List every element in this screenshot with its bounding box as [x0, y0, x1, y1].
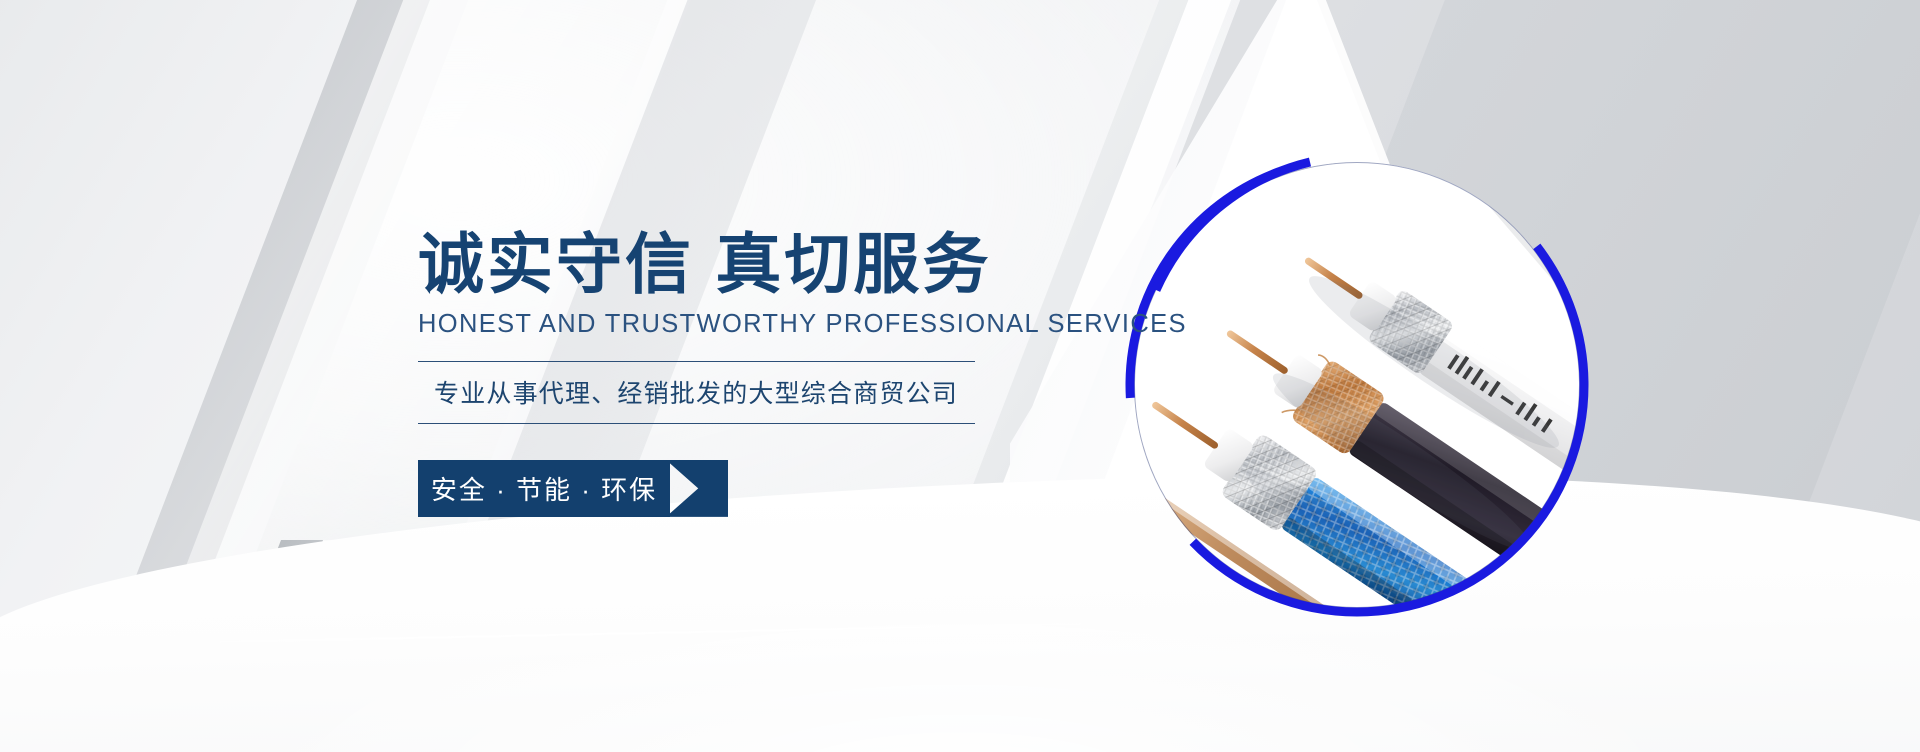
banner-subheadline-english: HONEST AND TRUSTWORTHY PROFESSIONAL SERV…: [418, 310, 1078, 339]
feature-tag-label: 安全 · 节能 · 环保: [418, 460, 670, 517]
banner-subheadline-chinese: 专业从事代理、经销批发的大型综合商贸公司: [418, 374, 975, 410]
feature-tag-chevron-notch: [666, 460, 728, 517]
product-medallion: [1122, 150, 1592, 620]
subheadline-rule-box: 专业从事代理、经销批发的大型综合商贸公司: [418, 361, 975, 424]
product-photo: [1134, 162, 1580, 608]
feature-tag-ribbon: 安全 · 节能 · 环保: [418, 460, 728, 517]
banner-content: 诚实守信 真切服务 HONEST AND TRUSTWORTHY PROFESS…: [418, 228, 1078, 517]
hero-banner: 诚实守信 真切服务 HONEST AND TRUSTWORTHY PROFESS…: [0, 0, 1920, 752]
banner-headline: 诚实守信 真切服务: [418, 228, 1078, 302]
